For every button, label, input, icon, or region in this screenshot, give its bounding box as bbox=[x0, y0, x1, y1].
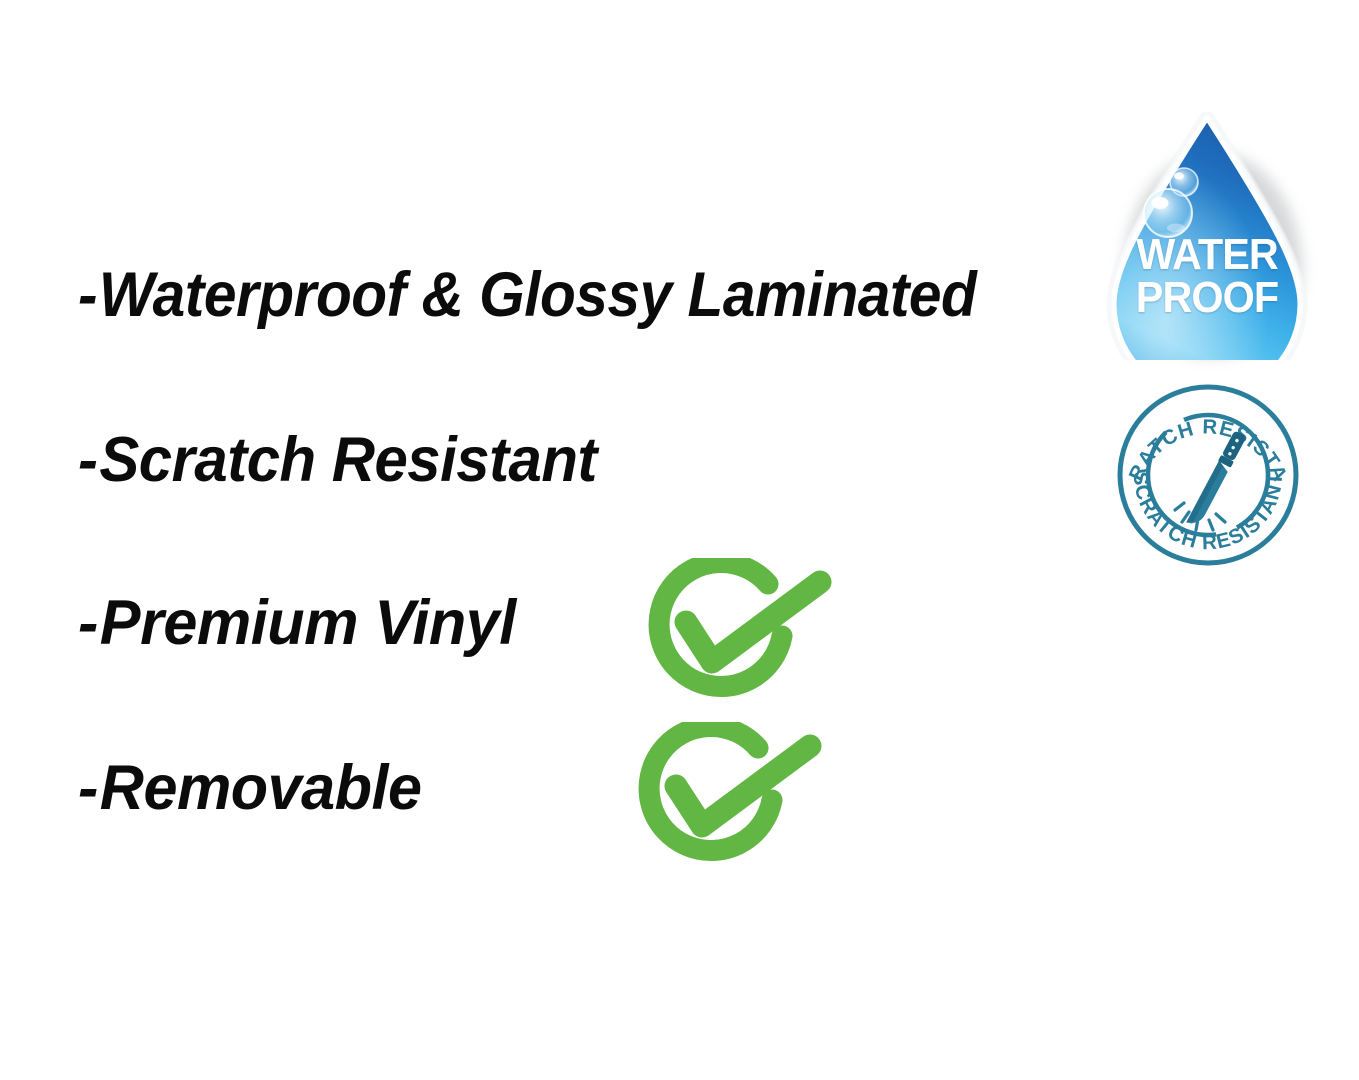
water-bubble-icon bbox=[1144, 189, 1192, 237]
feature-bullet-dash: - bbox=[78, 592, 98, 655]
feature-list: -Waterproof & Glossy Laminated -Scratch … bbox=[0, 0, 1100, 1080]
feature-item-removable: -Removable bbox=[78, 757, 422, 820]
feature-label: Premium Vinyl bbox=[100, 588, 516, 658]
feature-label: Removable bbox=[100, 753, 422, 823]
feature-item-scratch-resistant: -Scratch Resistant bbox=[78, 429, 597, 492]
water-drop-icon bbox=[1104, 112, 1310, 360]
feature-item-waterproof: -Waterproof & Glossy Laminated bbox=[78, 264, 976, 327]
check-tick bbox=[686, 582, 820, 662]
feature-bullet-dash: - bbox=[78, 757, 98, 820]
check-tick bbox=[676, 746, 810, 826]
feature-bullet-dash: - bbox=[78, 264, 97, 327]
check-circle-icon bbox=[630, 722, 830, 872]
scratch-resistant-badge: SCRATCH RESISTANT SCRATCH RESISTANT bbox=[1112, 379, 1304, 567]
check-circle-icon bbox=[640, 558, 840, 708]
feature-bullet-dash: - bbox=[78, 429, 97, 492]
feature-item-premium-vinyl: -Premium Vinyl bbox=[78, 592, 516, 655]
stamp-top-text: SCRATCH RESISTANT bbox=[1112, 379, 1292, 485]
waterproof-badge: WATER PROOF bbox=[1104, 112, 1310, 360]
feature-label: Waterproof & Glossy Laminated bbox=[99, 260, 976, 330]
feature-graphic-canvas: -Waterproof & Glossy Laminated -Scratch … bbox=[0, 0, 1359, 1080]
feature-label: Scratch Resistant bbox=[99, 425, 597, 495]
